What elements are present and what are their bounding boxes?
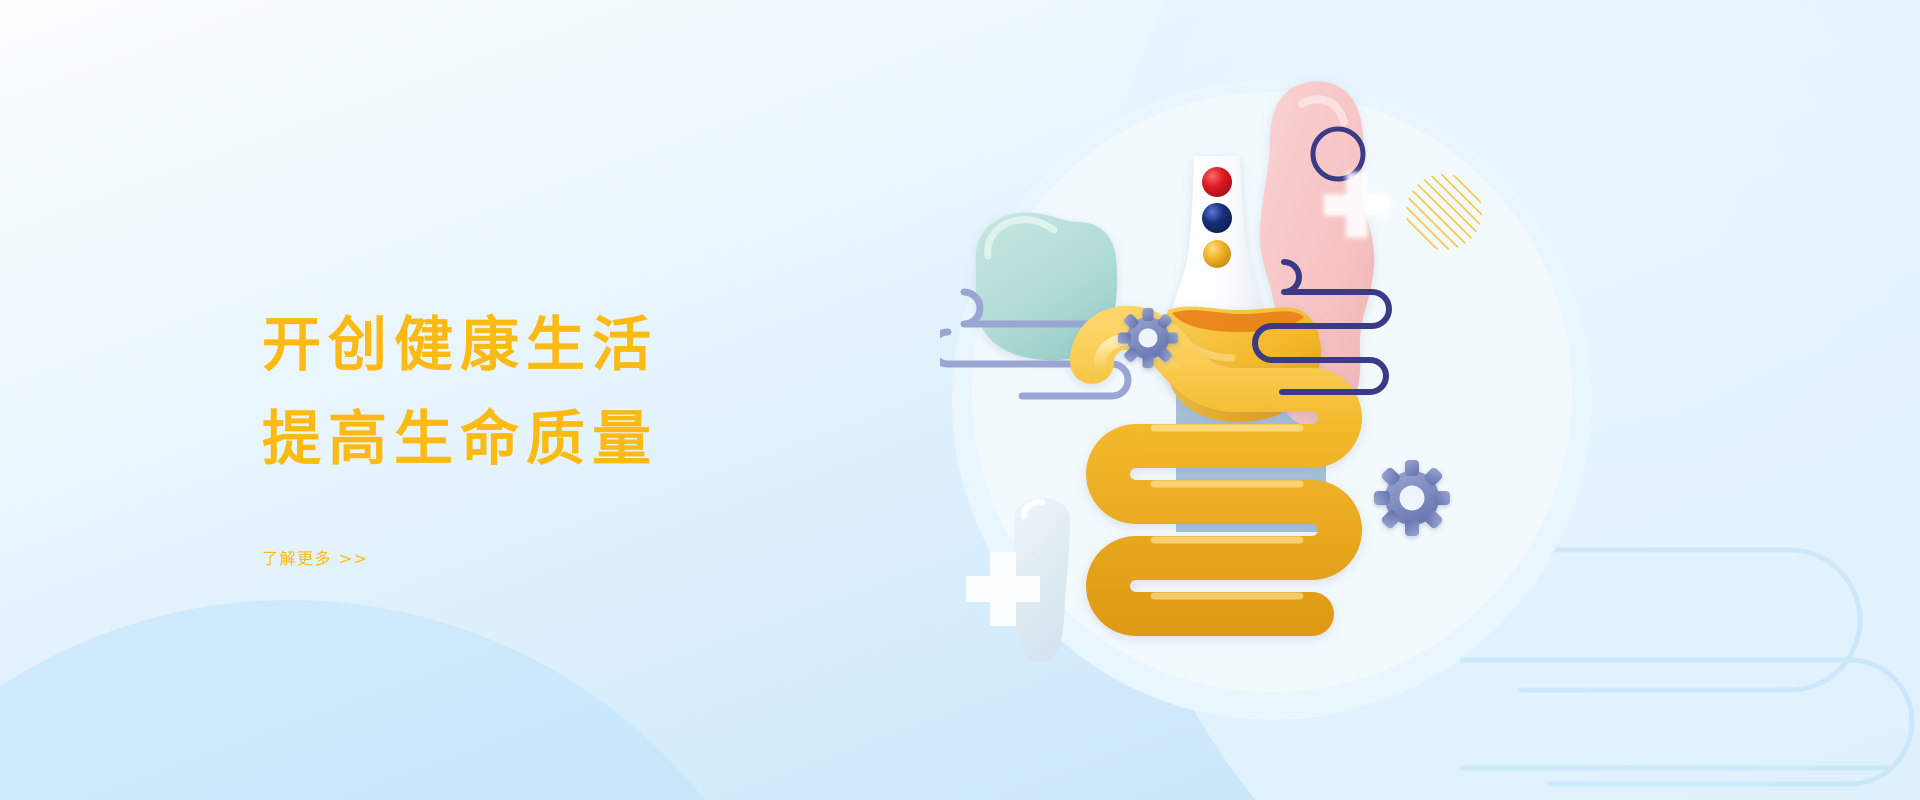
gear-large-icon [1374,460,1450,536]
dot-navy [1202,203,1232,233]
hero-banner: 开创健康生活 提高生命质量 了解更多 >> [0,0,1920,800]
digestive-system-illustration [940,70,1600,730]
headline-line-2: 提高生命质量 [262,394,1022,484]
dot-amber [1203,240,1231,268]
learn-more-link[interactable]: 了解更多 >> [262,545,368,569]
dot-red [1202,167,1232,197]
hatched-circle-amber-icon [1400,168,1488,256]
capsule-dots [1202,167,1232,268]
headline-line-1: 开创健康生活 [262,300,1022,390]
background-circle-bottom-left [0,600,820,800]
gear-small-icon [1118,308,1178,368]
hero-copy: 开创健康生活 提高生命质量 了解更多 >> [262,300,1022,569]
